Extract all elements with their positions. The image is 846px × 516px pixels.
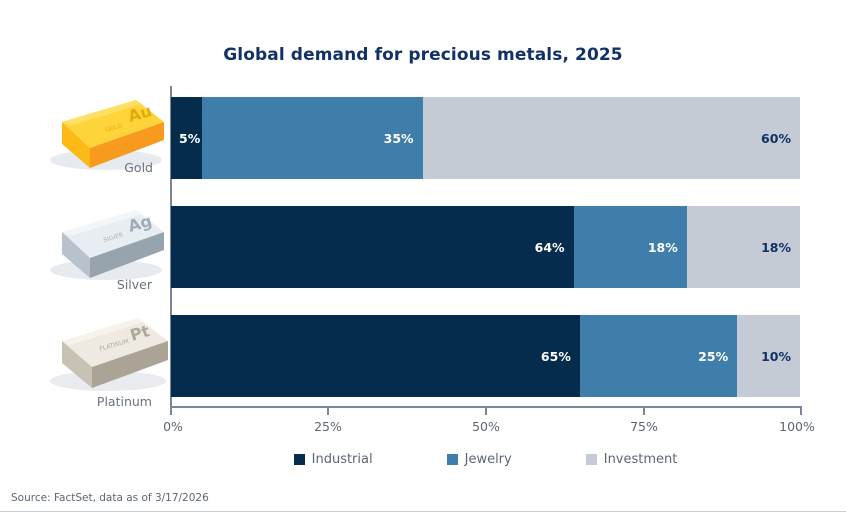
plot-area: 5% 35% 60% 64% 18% 18% 65%: [171, 95, 800, 405]
x-axis-tick: [170, 408, 172, 415]
legend-label: Investment: [604, 452, 678, 467]
x-axis-tick: [485, 408, 487, 415]
legend-item-jewelry[interactable]: Jewelry: [447, 452, 512, 467]
legend-item-investment[interactable]: Investment: [586, 452, 678, 467]
bar-value-label: 25%: [698, 349, 728, 364]
chart-container: Global demand for precious metals, 2025 …: [0, 0, 846, 516]
bar-value-label: 5%: [179, 131, 200, 146]
bar-segment-industrial[interactable]: 64%: [171, 206, 574, 288]
x-axis-tick-label: 25%: [314, 419, 342, 434]
bar-segment-jewelry[interactable]: 35%: [202, 97, 422, 179]
legend-label: Industrial: [312, 452, 373, 467]
bar-value-label: 35%: [384, 131, 414, 146]
table-row[interactable]: 65% 25% 10%: [171, 315, 800, 397]
x-axis-tick-label: 75%: [630, 419, 658, 434]
x-axis-tick: [800, 408, 802, 415]
footer-divider: [0, 511, 846, 512]
x-axis-tick-label: 0%: [163, 419, 183, 434]
source-note: Source: FactSet, data as of 3/17/2026: [11, 492, 209, 504]
bar-segment-investment[interactable]: 10%: [737, 315, 800, 397]
category-label-platinum: Platinum: [82, 394, 152, 409]
bar-segment-investment[interactable]: 18%: [687, 206, 800, 288]
category-label-gold: Gold: [98, 160, 153, 175]
legend-item-industrial[interactable]: Industrial: [294, 452, 373, 467]
bar-value-label: 65%: [541, 349, 571, 364]
x-axis-tick-label: 50%: [472, 419, 500, 434]
bar-segment-jewelry[interactable]: 25%: [580, 315, 737, 397]
bar-value-label: 18%: [648, 240, 678, 255]
chart-legend: Industrial Jewelry Investment: [171, 452, 800, 467]
bar-segment-industrial[interactable]: 65%: [171, 315, 580, 397]
bar-value-label: 18%: [761, 240, 791, 255]
platinum-ingot-icon: Pt PLATINUM: [26, 305, 176, 395]
bar-value-label: 60%: [761, 131, 791, 146]
bar-value-label: 10%: [761, 349, 791, 364]
industrial-swatch-icon: [294, 454, 305, 465]
x-axis-tick: [643, 408, 645, 415]
page-title: Global demand for precious metals, 2025: [0, 45, 846, 65]
table-row[interactable]: 64% 18% 18%: [171, 206, 800, 288]
x-axis-tick: [327, 408, 329, 415]
legend-label: Jewelry: [465, 452, 512, 467]
bar-segment-industrial[interactable]: 5%: [171, 97, 202, 179]
silver-ingot-icon: Ag SILVER: [26, 198, 170, 284]
jewelry-swatch-icon: [447, 454, 458, 465]
bar-value-label: 64%: [535, 240, 565, 255]
table-row[interactable]: 5% 35% 60%: [171, 97, 800, 179]
bar-segment-jewelry[interactable]: 18%: [574, 206, 687, 288]
x-axis-tick-label: 100%: [779, 419, 815, 434]
bar-segment-investment[interactable]: 60%: [423, 97, 800, 179]
investment-swatch-icon: [586, 454, 597, 465]
category-label-silver: Silver: [92, 277, 152, 292]
